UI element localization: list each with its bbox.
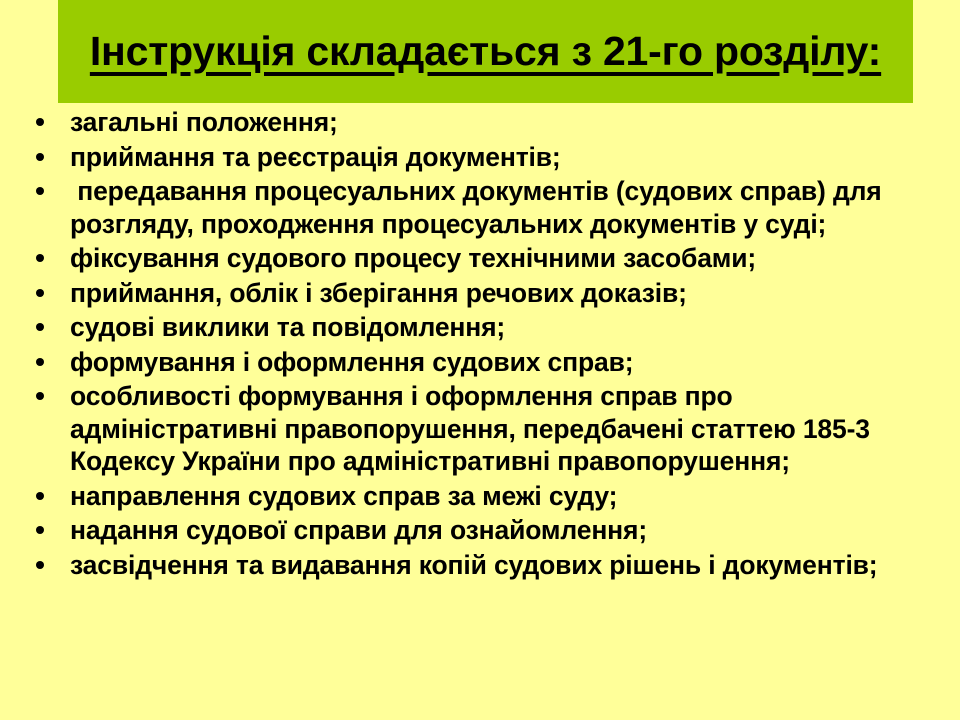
list-item: приймання, облік і зберігання речових до…: [0, 277, 960, 310]
bullet-dot-icon: [36, 358, 44, 366]
list-item-label: направлення судових справ за межі суду;: [70, 480, 932, 513]
bullet-dot-icon: [36, 254, 44, 262]
list-item-label: фіксування судового процесу технічними з…: [70, 242, 932, 275]
list-item: формування і оформлення судових справ;: [0, 346, 960, 379]
list-item: передавання процесуальних документів (су…: [0, 175, 960, 240]
list-item: фіксування судового процесу технічними з…: [0, 242, 960, 275]
list-item-label: передавання процесуальних документів (су…: [70, 175, 932, 240]
bullet-dot-icon: [36, 289, 44, 297]
list-item: загальні положення;: [0, 106, 960, 139]
bullet-dot-icon: [36, 561, 44, 569]
bullet-dot-icon: [36, 492, 44, 500]
bullet-dot-icon: [36, 526, 44, 534]
list-item-label: надання судової справи для ознайомлення;: [70, 514, 932, 547]
list-item: приймання та реєстрація документів;: [0, 141, 960, 174]
bullet-dot-icon: [36, 323, 44, 331]
list-item-label: засвідчення та видавання копій судових р…: [70, 549, 932, 582]
bullet-dot-icon: [36, 153, 44, 161]
list-item-label: формування і оформлення судових справ;: [70, 346, 932, 379]
bullet-dot-icon: [36, 187, 44, 195]
slide-title: Інструкція складається з 21-го розділу:: [90, 30, 881, 73]
slide-canvas: Інструкція складається з 21-го розділу: …: [0, 0, 960, 720]
list-item: особливості формування і оформлення спра…: [0, 380, 960, 478]
list-item: направлення судових справ за межі суду;: [0, 480, 960, 513]
bullet-dot-icon: [36, 118, 44, 126]
bullet-dot-icon: [36, 392, 44, 400]
list-item-label: особливості формування і оформлення спра…: [70, 380, 932, 478]
list-item: засвідчення та видавання копій судових р…: [0, 549, 960, 582]
list-item-label: приймання та реєстрація документів;: [70, 141, 932, 174]
slide-title-band: Інструкція складається з 21-го розділу:: [58, 0, 913, 103]
list-item-label: приймання, облік і зберігання речових до…: [70, 277, 932, 310]
bullet-list: загальні положення; приймання та реєстра…: [0, 106, 960, 583]
list-item: надання судової справи для ознайомлення;: [0, 514, 960, 547]
list-item-label: загальні положення;: [70, 106, 932, 139]
list-item: судові виклики та повідомлення;: [0, 311, 960, 344]
list-item-label: судові виклики та повідомлення;: [70, 311, 932, 344]
